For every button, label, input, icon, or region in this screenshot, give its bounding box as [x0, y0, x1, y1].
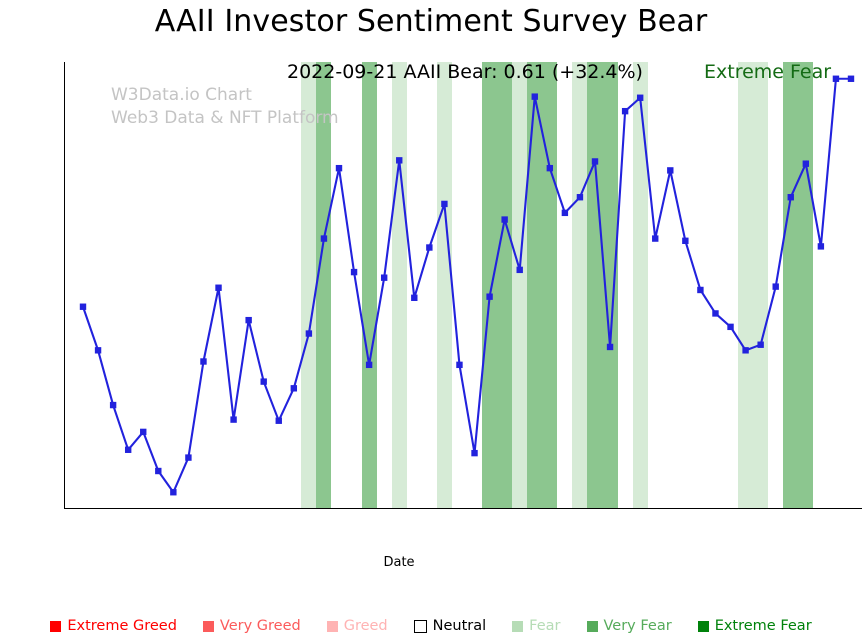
- legend-item[interactable]: Very Greed: [203, 618, 301, 634]
- legend-item[interactable]: Fear: [512, 618, 560, 634]
- legend-swatch: [414, 620, 427, 633]
- data-point-marker: [441, 201, 447, 207]
- legend-swatch: [50, 621, 61, 632]
- legend-label: Fear: [529, 618, 560, 634]
- latest-state-annotation: Extreme Fear: [704, 62, 831, 83]
- data-point-marker: [396, 157, 402, 163]
- data-point-marker: [622, 108, 628, 114]
- data-point-marker: [155, 468, 161, 474]
- data-point-marker: [230, 416, 236, 422]
- legend-swatch: [512, 621, 523, 632]
- data-line: [83, 79, 851, 492]
- data-point-marker: [592, 158, 598, 164]
- data-point-marker: [215, 285, 221, 291]
- data-point-marker: [486, 293, 492, 299]
- data-point-marker: [125, 447, 131, 453]
- legend-item[interactable]: Greed: [327, 618, 388, 634]
- data-point-marker: [456, 362, 462, 368]
- data-point-marker: [366, 362, 372, 368]
- data-point-marker: [471, 450, 477, 456]
- data-point-marker: [110, 402, 116, 408]
- data-point-marker: [667, 167, 673, 173]
- data-point-marker: [637, 95, 643, 101]
- legend-item[interactable]: Very Fear: [587, 618, 672, 634]
- data-point-marker: [682, 238, 688, 244]
- data-point-marker: [261, 378, 267, 384]
- data-point-marker: [848, 76, 854, 82]
- data-point-marker: [140, 429, 146, 435]
- legend-item[interactable]: Neutral: [414, 618, 487, 634]
- data-point-marker: [351, 269, 357, 275]
- legend-swatch: [587, 621, 598, 632]
- legend-swatch: [327, 621, 338, 632]
- data-point-marker: [245, 317, 251, 323]
- legend-label: Neutral: [433, 618, 487, 634]
- legend-item[interactable]: Extreme Fear: [698, 618, 812, 634]
- data-point-marker: [321, 235, 327, 241]
- latest-value-annotation: 2022-09-21 AAII Bear: 0.61 (+32.4%): [287, 62, 643, 83]
- legend: Extreme GreedVery GreedGreedNeutralFearV…: [0, 613, 862, 639]
- data-point-marker: [607, 344, 613, 350]
- data-point-marker: [818, 243, 824, 249]
- legend-label: Extreme Fear: [715, 618, 812, 634]
- chart-page: AAII Investor Sentiment Survey Bear W3Da…: [0, 0, 862, 642]
- data-point-marker: [200, 358, 206, 364]
- data-point-marker: [742, 347, 748, 353]
- data-point-marker: [517, 267, 523, 273]
- page-title: AAII Investor Sentiment Survey Bear: [0, 4, 862, 39]
- legend-label: Very Greed: [220, 618, 301, 634]
- data-point-marker: [306, 330, 312, 336]
- data-point-marker: [697, 287, 703, 293]
- data-point-marker: [276, 418, 282, 424]
- data-point-marker: [833, 76, 839, 82]
- x-axis-label: Date: [383, 555, 414, 570]
- data-point-marker: [727, 324, 733, 330]
- legend-swatch: [698, 621, 709, 632]
- data-point-marker: [547, 165, 553, 171]
- data-point-marker: [773, 283, 779, 289]
- legend-label: Extreme Greed: [67, 618, 177, 634]
- legend-label: Greed: [344, 618, 388, 634]
- legend-label: Very Fear: [604, 618, 672, 634]
- data-point-marker: [652, 235, 658, 241]
- data-point-marker: [501, 216, 507, 222]
- legend-swatch: [203, 621, 214, 632]
- data-point-marker: [336, 165, 342, 171]
- data-point-marker: [95, 347, 101, 353]
- data-point-marker: [788, 194, 794, 200]
- data-point-marker: [757, 342, 763, 348]
- data-point-marker: [532, 93, 538, 99]
- data-point-marker: [381, 274, 387, 280]
- data-point-marker: [712, 310, 718, 316]
- data-point-marker: [170, 489, 176, 495]
- data-point-marker: [426, 244, 432, 250]
- data-point-marker: [577, 194, 583, 200]
- data-point-marker: [291, 385, 297, 391]
- legend-item[interactable]: Extreme Greed: [50, 618, 177, 634]
- data-point-marker: [411, 295, 417, 301]
- data-point-marker: [562, 210, 568, 216]
- data-point-marker: [185, 454, 191, 460]
- plot-area: W3Data.io Chart Web3 Data & NFT Platform…: [64, 62, 862, 509]
- data-line-svg: [65, 62, 862, 509]
- data-point-marker: [803, 160, 809, 166]
- data-point-marker: [80, 304, 86, 310]
